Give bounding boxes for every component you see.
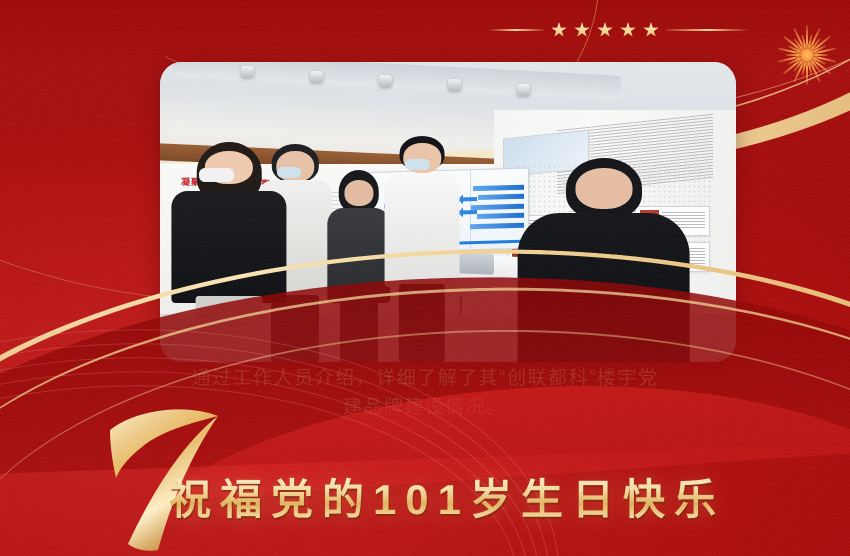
photo-spotlight [310,71,323,83]
photo-spotlight [379,75,392,87]
photo-ceiling-coffer [172,62,621,100]
firework-burst-icon [770,18,844,92]
photo-screen-chevron [470,222,525,229]
star-icon [574,22,590,38]
poster-root: 凝聚领航、助力双赢 [0,0,850,556]
star-icon [620,22,636,38]
divider-rule-right [666,29,750,31]
star-icon [597,22,613,38]
photo-spotlight [241,66,254,78]
star-icon [643,22,659,38]
star-decoration-strip [488,22,750,38]
photo-spotlight [517,84,530,96]
photo-screen-arrow [459,210,476,214]
photo-spotlight [448,79,461,91]
photo-screen-arrow [459,197,476,201]
poster-main-title: 祝福党的101岁生日快乐 [0,466,850,527]
star-icon [551,22,567,38]
divider-rule-left [488,29,544,31]
